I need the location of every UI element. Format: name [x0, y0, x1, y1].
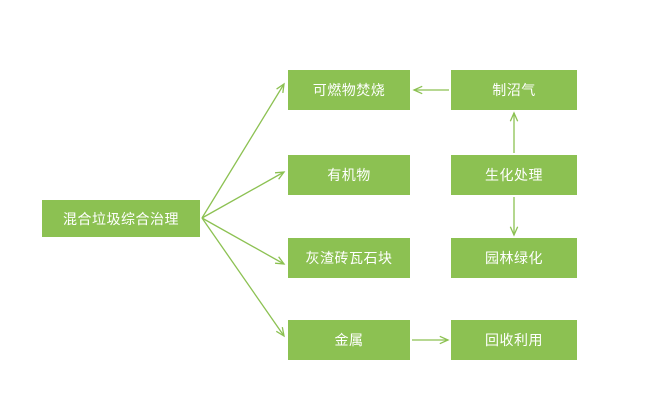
- node-biogas[interactable]: 制沼气: [451, 70, 577, 110]
- arrowhead: [276, 327, 284, 336]
- node-metal[interactable]: 金属: [288, 320, 410, 360]
- arrowhead: [275, 172, 284, 179]
- arrowhead: [510, 227, 517, 235]
- edge-biochem-to-biogas: [510, 113, 517, 153]
- flowchart-canvas: 混合垃圾综合治理可燃物焚烧有机物灰渣砖瓦石块金属制沼气生化处理园林绿化回收利用: [0, 0, 648, 416]
- edge-source-to-organic: [202, 172, 284, 218]
- edge-metal-to-recycle: [412, 336, 448, 343]
- node-label-source: 混合垃圾综合治理: [63, 212, 179, 226]
- node-source[interactable]: 混合垃圾综合治理: [42, 200, 200, 237]
- edge-biogas-to-incinerate: [414, 86, 449, 93]
- node-ash_brick[interactable]: 灰渣砖瓦石块: [288, 238, 410, 278]
- node-label-biogas: 制沼气: [492, 83, 536, 97]
- node-landscape[interactable]: 园林绿化: [451, 238, 577, 278]
- node-label-incinerate: 可燃物焚烧: [313, 83, 386, 97]
- arrowhead: [510, 113, 517, 121]
- node-biochem[interactable]: 生化处理: [451, 155, 577, 195]
- arrowhead: [277, 84, 284, 93]
- arrowhead: [414, 86, 422, 93]
- node-label-landscape: 园林绿化: [485, 251, 543, 265]
- edge-biochem-to-landscape: [510, 197, 517, 235]
- node-label-organic: 有机物: [327, 168, 371, 182]
- node-incinerate[interactable]: 可燃物焚烧: [288, 70, 410, 110]
- edge-source-to-metal: [202, 218, 284, 336]
- node-label-ash_brick: 灰渣砖瓦石块: [306, 251, 393, 265]
- node-label-recycle: 回收利用: [485, 333, 543, 347]
- node-recycle[interactable]: 回收利用: [451, 320, 577, 360]
- edge-source-to-ash: [202, 218, 284, 264]
- node-organic[interactable]: 有机物: [288, 155, 410, 195]
- edge-source-to-incinerate: [202, 84, 284, 218]
- node-label-metal: 金属: [335, 333, 364, 347]
- node-label-biochem: 生化处理: [485, 168, 543, 182]
- arrowhead: [275, 257, 284, 264]
- arrowhead: [440, 336, 448, 343]
